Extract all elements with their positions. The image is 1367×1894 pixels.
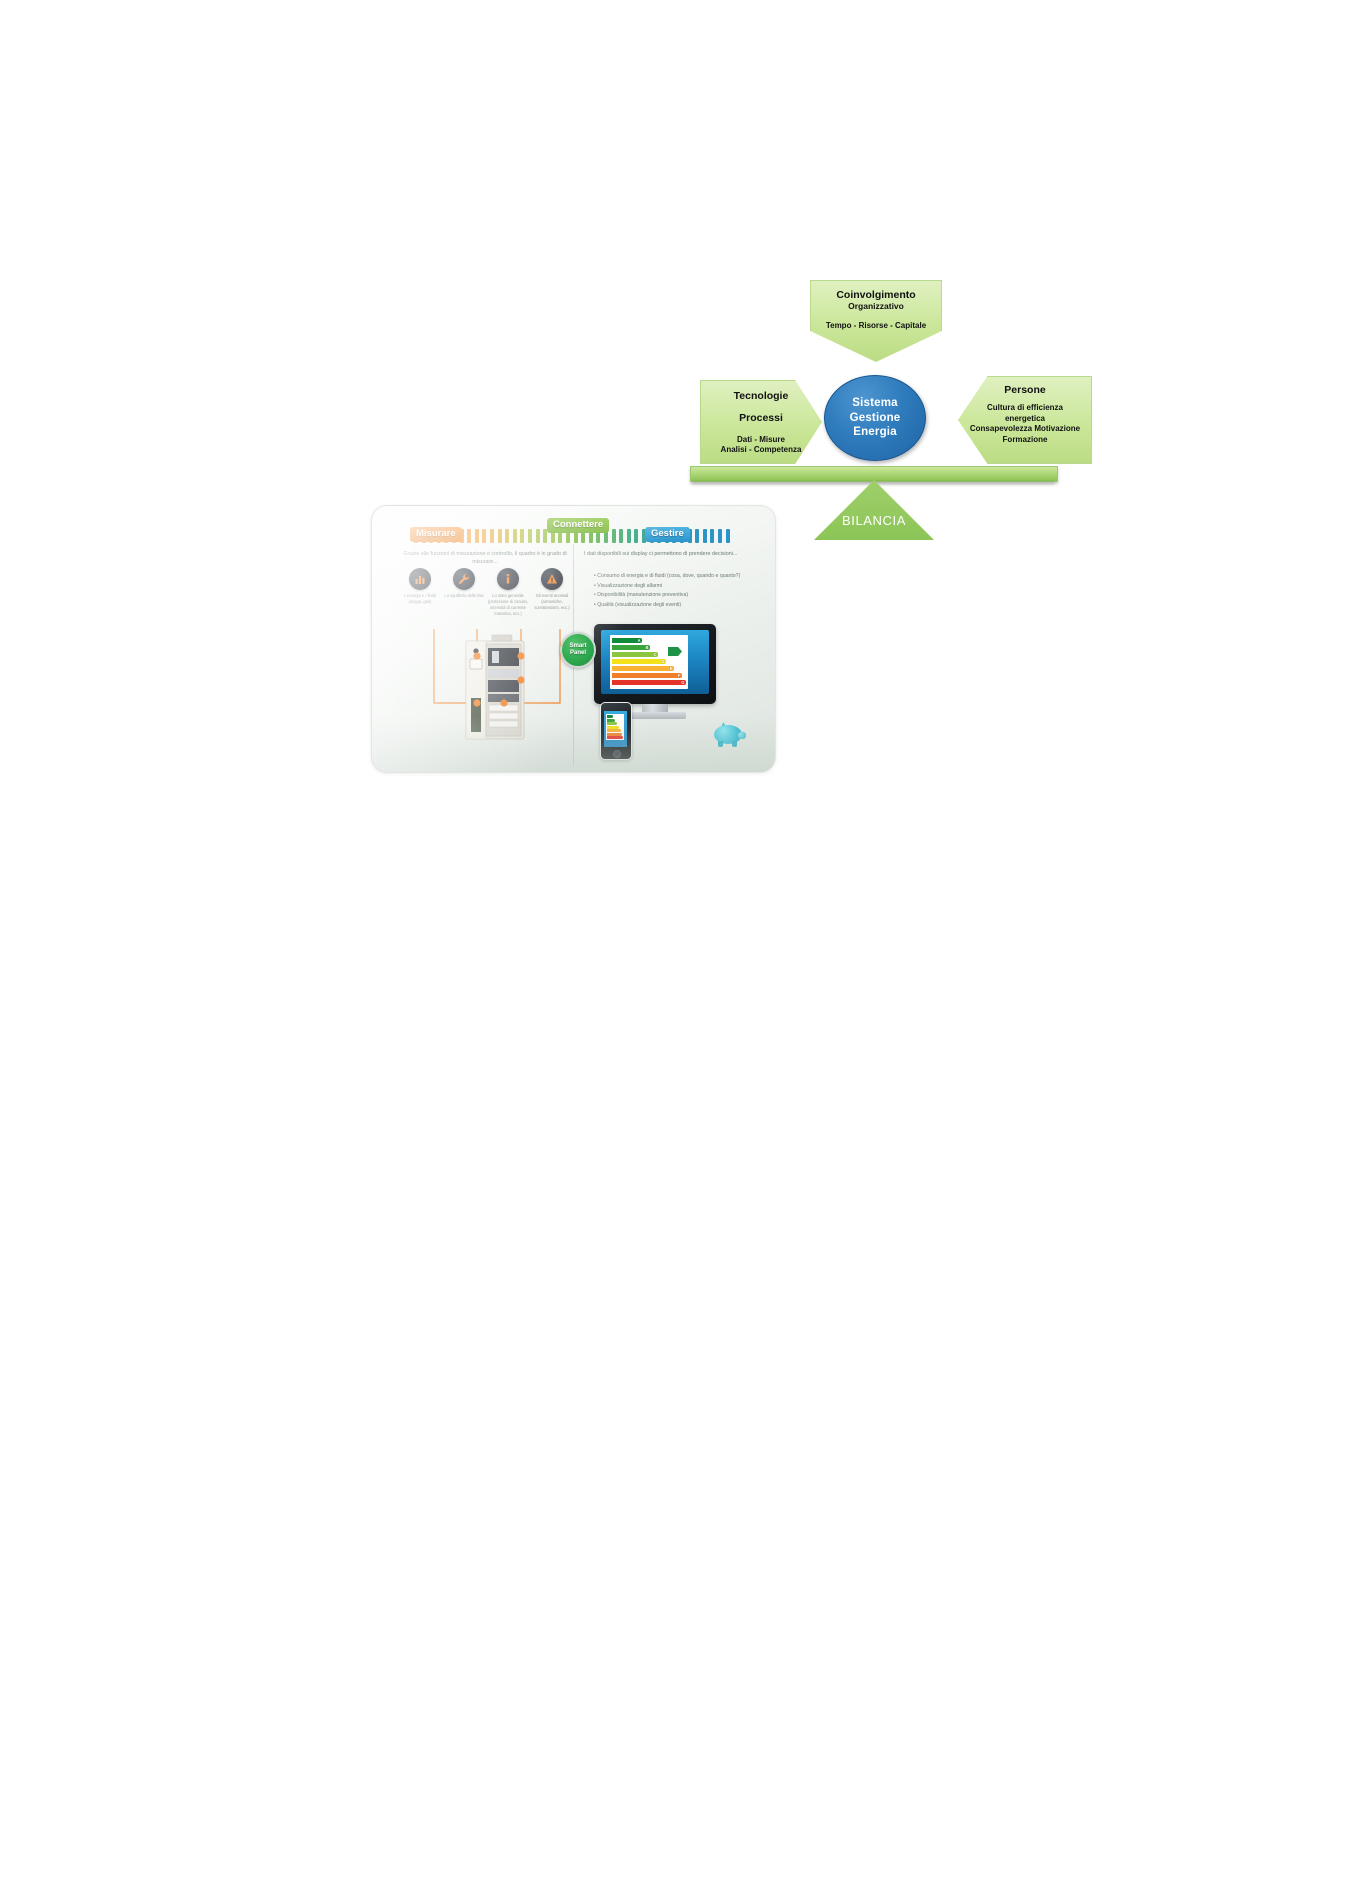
spectrum-bar (467, 529, 471, 543)
energy-bar-A: A (612, 638, 642, 643)
energy-bar-C: C (612, 652, 658, 657)
core-line-2: Gestione (850, 411, 901, 426)
spectrum-bar (695, 529, 699, 543)
spectrum-bar (718, 529, 722, 543)
energy-bar-D-label: D (661, 659, 664, 664)
spectrum-bar (528, 529, 532, 543)
spectrum-bar (612, 529, 616, 543)
energy-label-chart: A B C D E F G (610, 635, 688, 689)
list-item: • Qualità (visualizzazione degli eventi) (594, 601, 762, 609)
smart-panel-badge: Smart Panel (560, 632, 596, 668)
spectrum-bar (505, 529, 509, 543)
chevron-persone: Persone Cultura di efficienza energetica… (958, 376, 1092, 464)
spectrum-bar (619, 529, 623, 543)
spectrum-bar (627, 529, 631, 543)
spectrum-bar (520, 529, 524, 543)
info-icon (497, 568, 519, 590)
smart-panel-figure: Misurare Connettere Gestire Grazie alle … (371, 505, 776, 773)
energy-bar-D: D (612, 659, 666, 664)
spectrum-bar (726, 529, 730, 543)
chevron-tecnologie-title-2: Processi (701, 403, 821, 425)
spectrum-bar (475, 529, 479, 543)
measure-caption-energy: L'energia e i fluidi (acqua, gas) (398, 593, 442, 605)
chevron-persone-title: Persone (959, 377, 1091, 397)
chevron-tecnologie-detail-2: Analisi - Competenza (701, 445, 821, 455)
pill-connettere: Connettere (547, 518, 609, 533)
bilancia-label: BILANCIA (814, 513, 934, 528)
spectrum-bar (482, 529, 486, 543)
energy-bar-F: F (612, 673, 682, 678)
energy-bar-B: B (612, 645, 650, 650)
spectrum-bar (634, 529, 638, 543)
energy-bar-C-label: C (653, 652, 656, 657)
spectrum-bar (536, 529, 540, 543)
core-ellipse-sistema-gestione-energia: Sistema Gestione Energia (824, 375, 926, 461)
chevron-coinvolgimento-detail: Tempo - Risorse - Capitale (811, 321, 941, 330)
bar-chart-icon (409, 568, 431, 590)
panel-floor-gradient (372, 716, 775, 772)
measure-item-energy: L'energia e i fluidi (acqua, gas) (398, 568, 442, 605)
measure-caption-phases: Lo squilibrio delle fasi (442, 593, 486, 599)
spectrum-bar (513, 529, 517, 543)
chevron-persone-detail-2: energetica (959, 414, 1091, 425)
warning-icon (541, 568, 563, 590)
chevron-tecnologie-detail-1: Dati - Misure (701, 435, 821, 445)
chevron-persone-detail-1: Cultura di efficienza (959, 403, 1091, 414)
measure-caption-events: Gli eventi anomali (armoniche, sovratens… (530, 593, 574, 611)
chevron-coinvolgimento-title: Coinvolgimento (811, 281, 941, 302)
chevron-tecnologie-title-1: Tecnologie (701, 381, 821, 403)
core-line-3: Energia (853, 425, 897, 440)
measure-caption-status: Lo stato generale (protezione di circuit… (486, 593, 530, 617)
pill-misurare: Misurare (410, 527, 462, 542)
energy-class-marker-arrow (668, 647, 682, 656)
spectrum-bar (490, 529, 494, 543)
chevron-coinvolgimento: Coinvolgimento Organizzativo Tempo - Ris… (810, 280, 942, 362)
energy-bar-F-label: F (678, 673, 681, 678)
monitor-screen: A B C D E F G (601, 630, 709, 694)
energy-bar-E: E (612, 666, 674, 671)
intro-text-left: Grazie alle funzioni di misurazione e co… (402, 550, 568, 566)
energy-bar-A-label: A (637, 638, 640, 643)
chevron-persone-detail-4: Formazione (959, 435, 1091, 446)
fulcrum-triangle (814, 480, 934, 540)
list-item: • Consumo di energia e di fluidi (cosa, … (594, 572, 762, 580)
measure-item-events: Gli eventi anomali (armoniche, sovratens… (530, 568, 574, 611)
list-item: • Visualizzazione degli allarmi (594, 582, 762, 590)
chevron-tecnologie: Tecnologie Processi Dati - Misure Analis… (700, 380, 822, 464)
spectrum-bar (710, 529, 714, 543)
energy-bar-E-label: E (670, 666, 673, 671)
smart-badge-line-1: Smart (569, 643, 586, 650)
energy-bar-B-label: B (645, 645, 648, 650)
measure-item-status: Lo stato generale (protezione di circuit… (486, 568, 530, 617)
core-line-1: Sistema (852, 396, 898, 411)
pill-gestire: Gestire (645, 527, 690, 542)
balance-beam (690, 466, 1058, 482)
smart-badge-line-2: Panel (570, 650, 586, 657)
benefit-bullet-list: • Consumo di energia e di fluidi (cosa, … (594, 572, 762, 610)
intro-text-right: I dati disponibili sui display ci permet… (584, 550, 764, 558)
spectrum-bar (703, 529, 707, 543)
energy-bar-G-label: G (681, 680, 684, 685)
spectrum-bar (498, 529, 502, 543)
list-item: • Disponibilità (manutenzione preventiva… (594, 591, 762, 599)
chevron-persone-detail-3: Consapevolezza Motivazione (959, 424, 1091, 435)
energy-bar-G: G (612, 680, 686, 685)
chevron-coinvolgimento-subtitle: Organizzativo (811, 302, 941, 312)
measure-item-phases: Lo squilibrio delle fasi (442, 568, 486, 599)
wrench-icon (453, 568, 475, 590)
